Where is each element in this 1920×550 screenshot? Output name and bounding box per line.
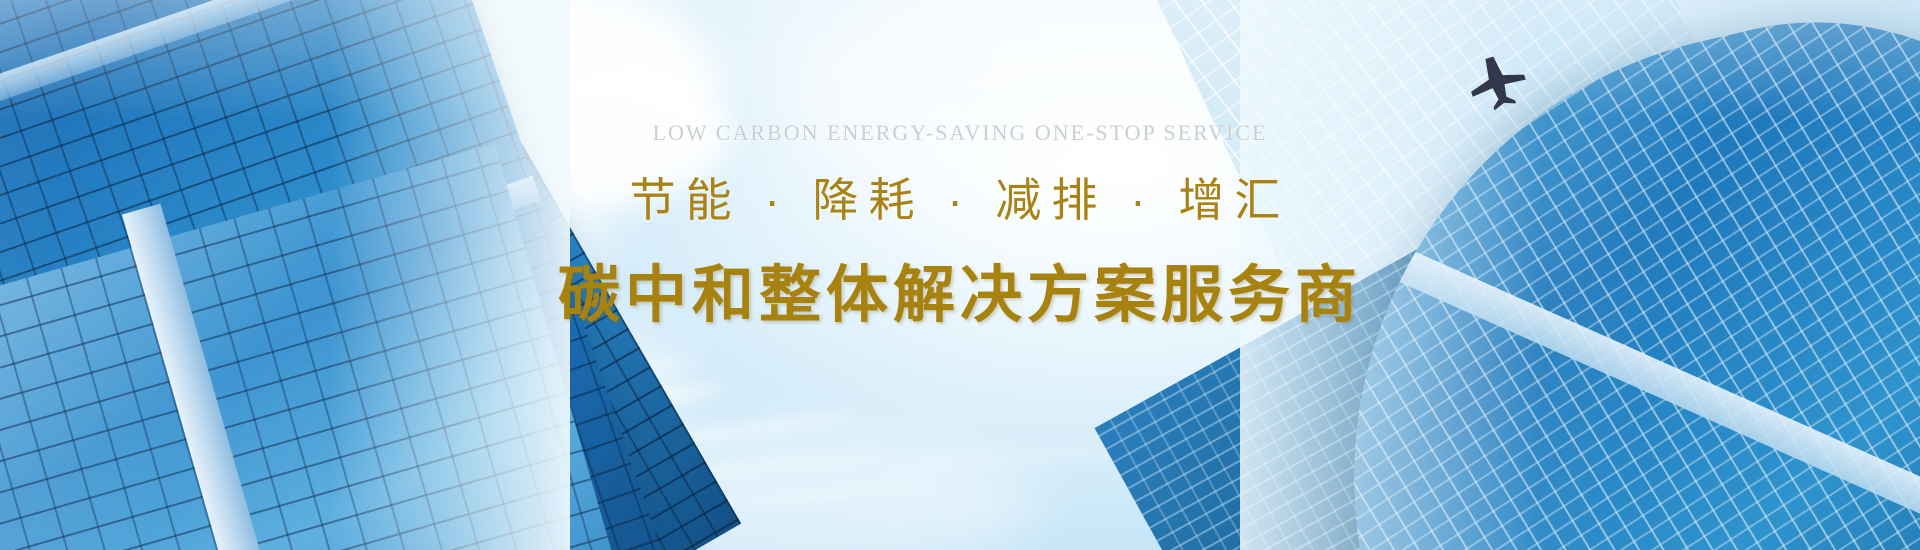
banner-copy: LOW CARBON ENERGY-SAVING ONE-STOP SERVIC… <box>0 120 1920 334</box>
low-carbon-hero-banner: LOW CARBON ENERGY-SAVING ONE-STOP SERVIC… <box>0 0 1920 550</box>
sky-haze-top <box>0 0 1920 120</box>
banner-subtitle: 节能 · 降耗 · 减排 · 增汇 <box>0 164 1920 230</box>
english-tagline: LOW CARBON ENERGY-SAVING ONE-STOP SERVIC… <box>0 120 1920 146</box>
banner-title: 碳中和整体解决方案服务商 <box>0 244 1920 334</box>
